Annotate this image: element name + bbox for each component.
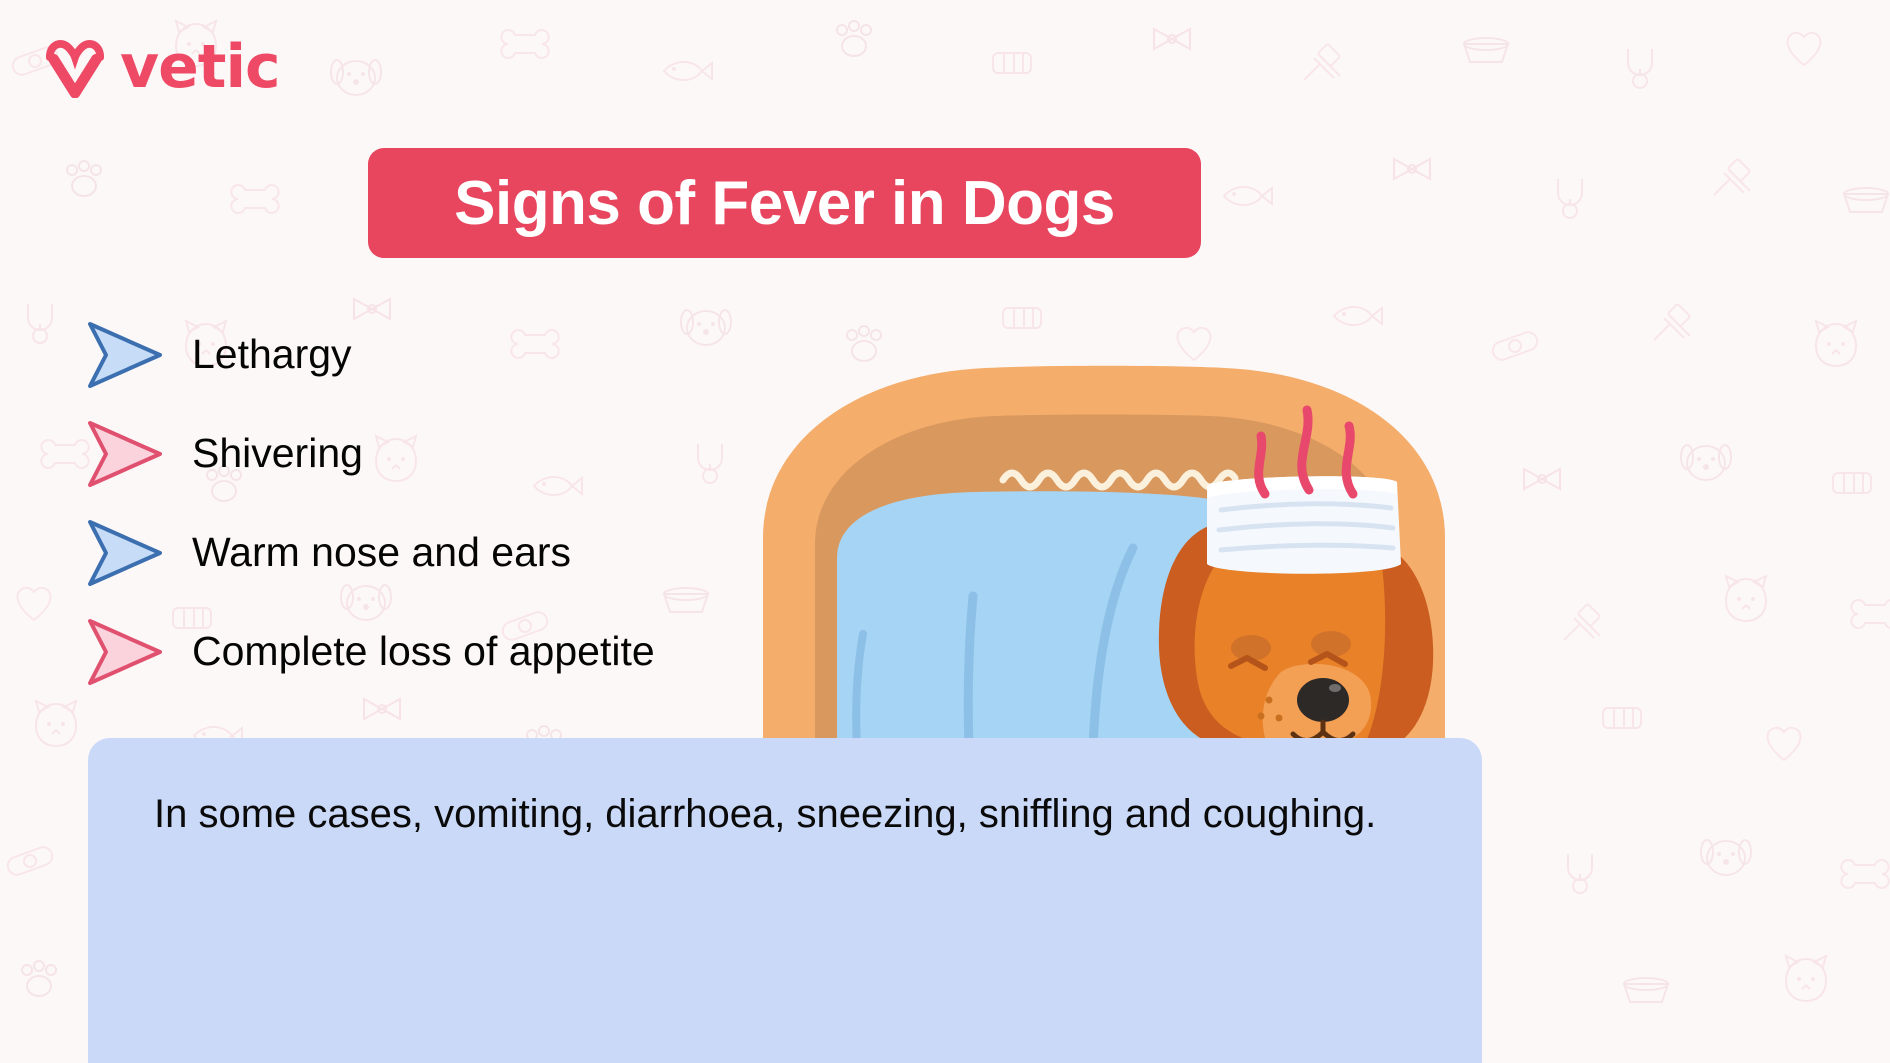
symptom-list: Lethargy Shivering Warm nose and ears Co… [84,305,844,701]
arrow-bullet-icon [84,319,166,391]
arrow-bullet-icon [84,616,166,688]
dog-nose-highlight [1329,684,1341,692]
list-item: Complete loss of appetite [84,602,844,701]
note-text: In some cases, vomiting, diarrhoea, snee… [154,794,1376,834]
list-item-label: Lethargy [192,334,352,375]
list-item: Lethargy [84,305,844,404]
dog-freckle [1258,713,1265,720]
list-item: Shivering [84,404,844,503]
logo-wordmark: vetic [120,37,280,97]
note-banner: In some cases, vomiting, diarrhoea, snee… [88,738,1482,1063]
list-item: Warm nose and ears [84,503,844,602]
page-title: Signs of Fever in Dogs [454,168,1115,239]
vetic-logo[interactable]: vetic [44,36,280,98]
arrow-bullet-icon [84,517,166,589]
dog-freckle [1276,715,1283,722]
title-banner: Signs of Fever in Dogs [368,148,1201,258]
arrow-bullet-icon [84,418,166,490]
dog-nose [1297,678,1349,722]
sick-dog-in-bed-illustration [745,348,1480,748]
dog-freckle [1266,697,1273,704]
cold-compress [1207,476,1401,574]
heart-v-logo-icon [44,36,106,98]
infographic-canvas: vetic Signs of Fever in Dogs Lethargy Sh… [0,0,1890,1063]
blanket-fold [968,596,973,748]
list-item-label: Warm nose and ears [192,532,571,573]
list-item-label: Complete loss of appetite [192,631,655,672]
list-item-label: Shivering [192,433,363,474]
